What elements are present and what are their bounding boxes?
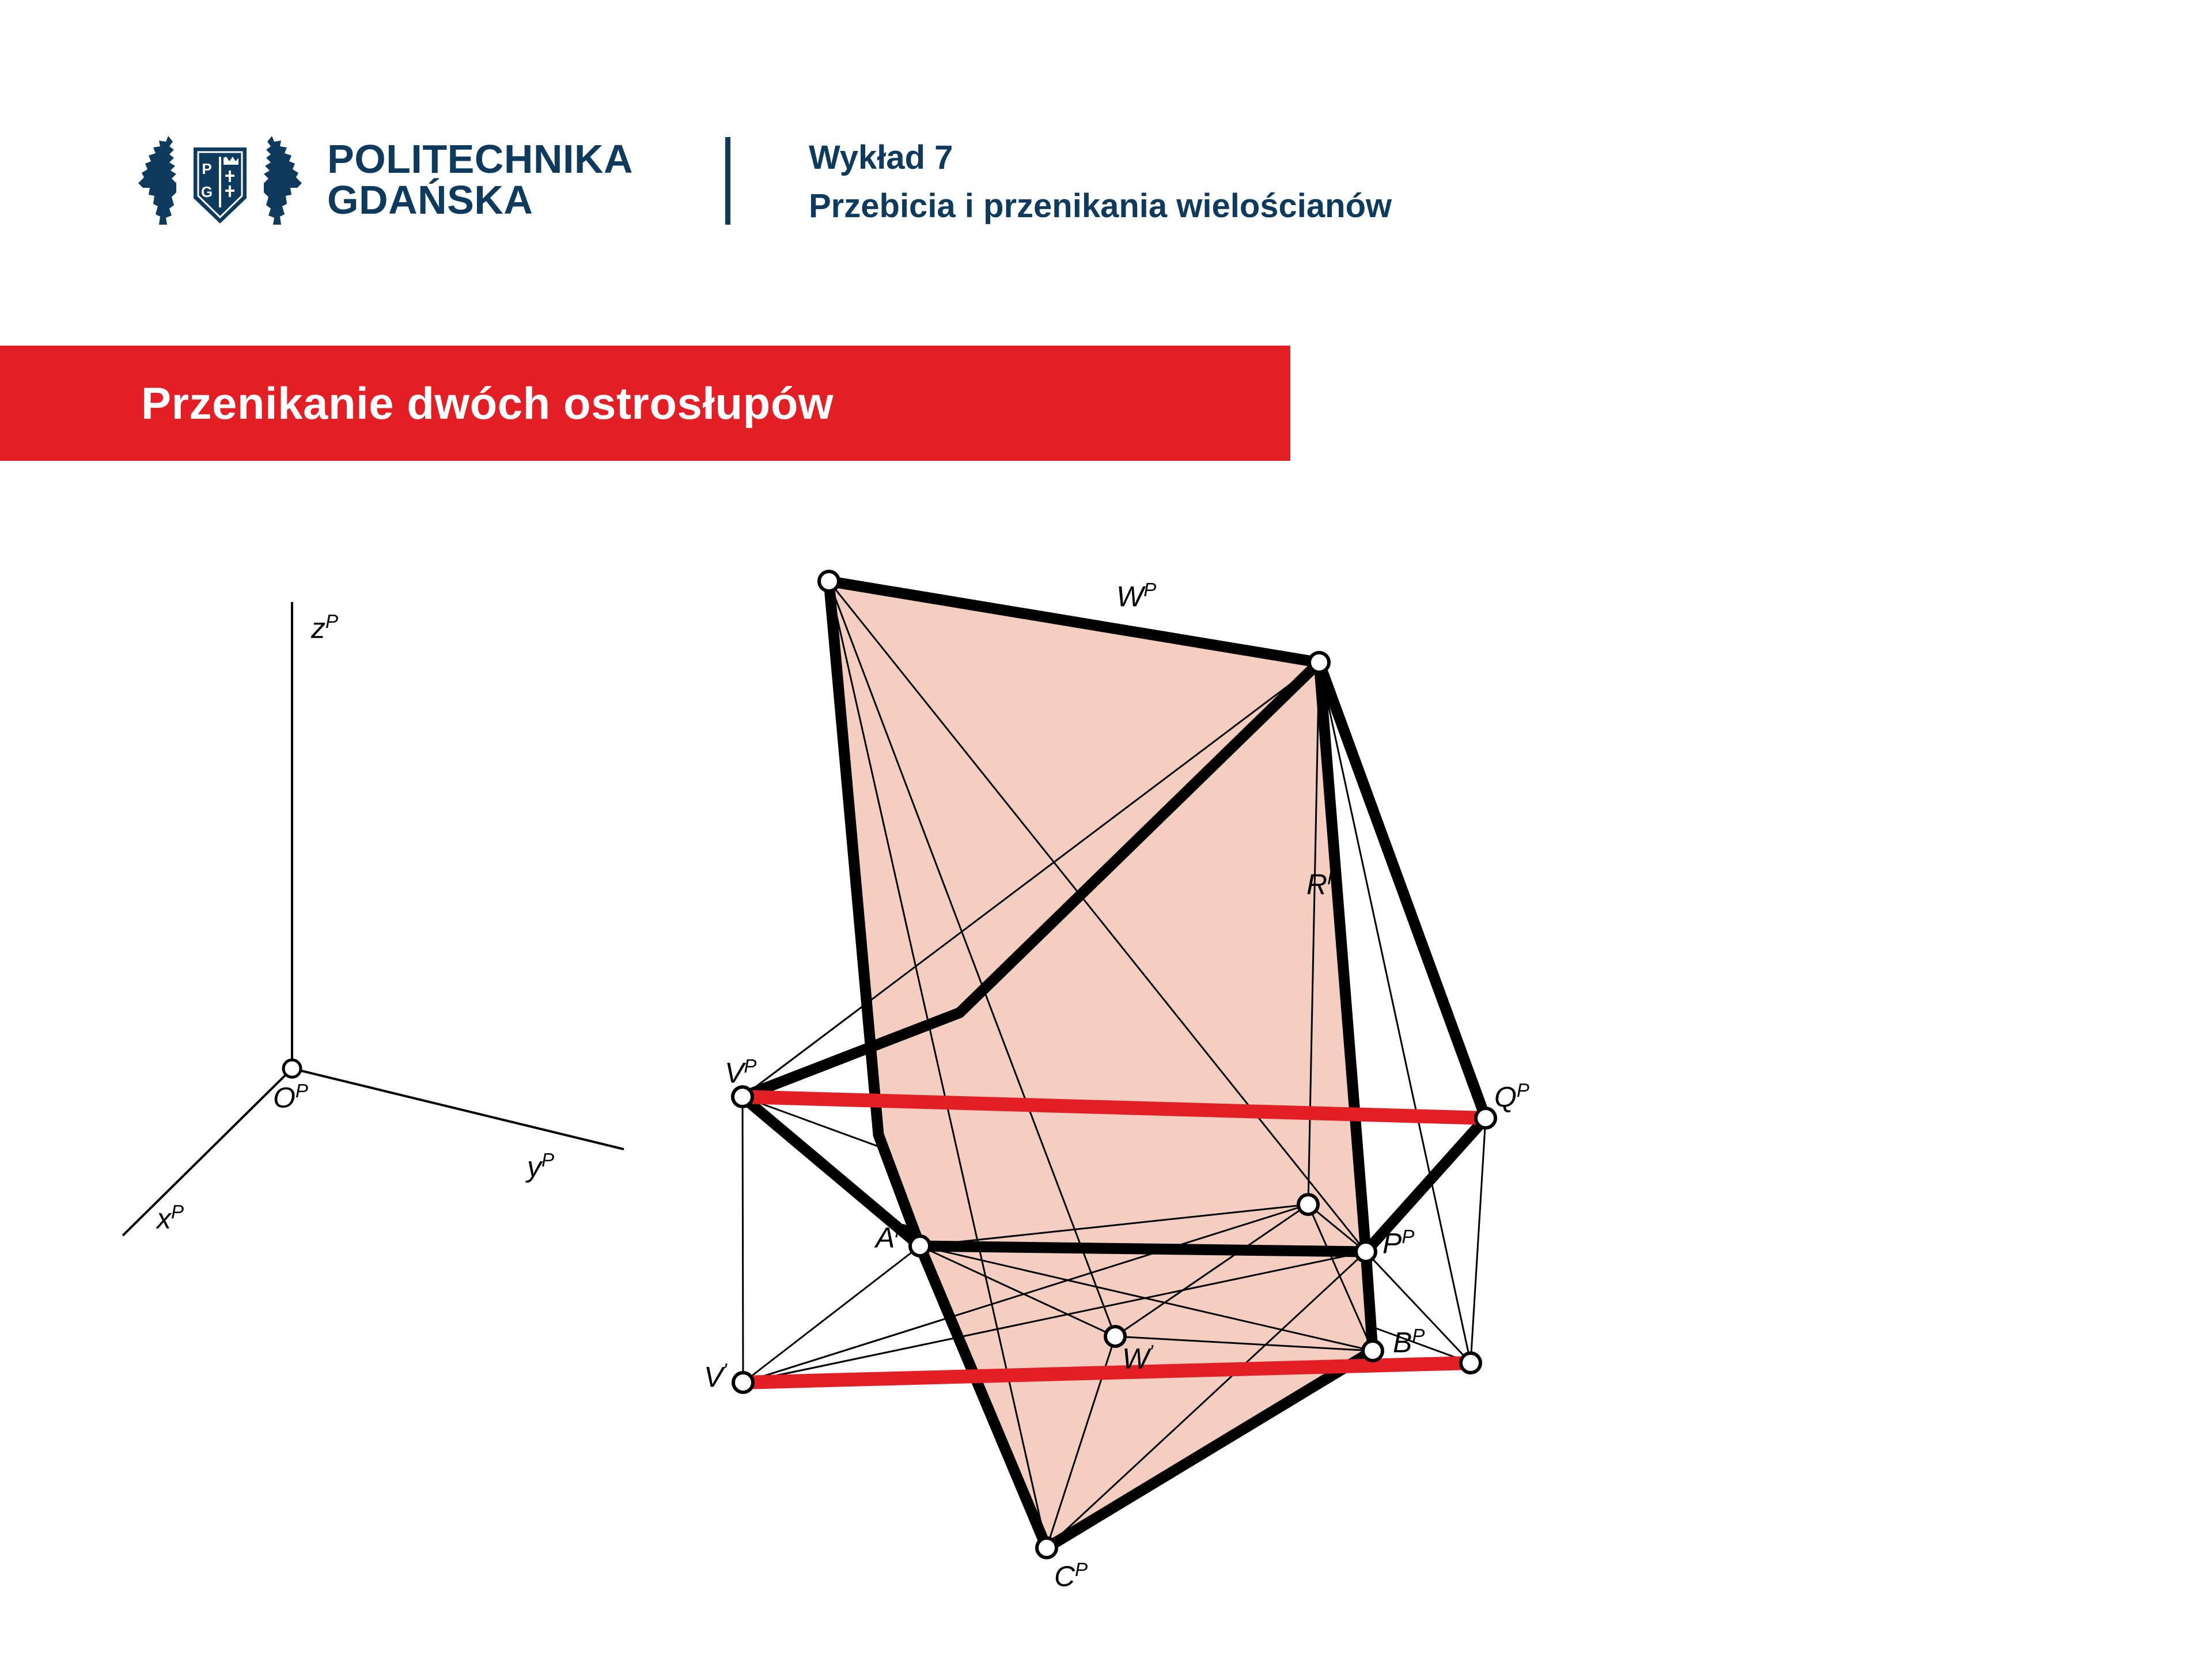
origin-point [283, 1060, 301, 1077]
vertex-P [1356, 1242, 1376, 1262]
vertex-A [910, 1236, 930, 1256]
point-label-W: WP [1116, 579, 1156, 613]
coordinate-axes [123, 602, 624, 1236]
vertex-V-prime [733, 1373, 753, 1392]
vertex-V [733, 1087, 752, 1107]
point-label-Q: QP [1494, 1080, 1529, 1114]
vertex-R [1309, 653, 1329, 672]
axis-y [292, 1069, 624, 1149]
vertex-W [819, 571, 839, 591]
point-label-V: VP [725, 1055, 756, 1090]
point-label-W-prime: W' [1122, 1341, 1153, 1376]
point-label-A: AP [876, 1220, 907, 1255]
technical-drawing [0, 0, 2212, 1659]
axis-label-y: yP [527, 1149, 554, 1184]
axis-label-x: xP [157, 1201, 184, 1236]
axis-label-z: zP [311, 611, 338, 645]
axis-label-origin: OP [273, 1080, 308, 1115]
intersection-lower [743, 1363, 1471, 1382]
point-label-V-prime: V' [704, 1359, 727, 1394]
vertex-R-prime [1298, 1195, 1318, 1214]
vertex-C [1037, 1538, 1056, 1558]
vertex-Q-prime [1461, 1353, 1480, 1373]
axis-x [123, 1069, 292, 1236]
point-label-R: RP [1306, 867, 1340, 902]
vertex-B [1363, 1341, 1382, 1361]
point-label-P: PP [1382, 1226, 1414, 1260]
point-label-B: BP [1393, 1325, 1425, 1359]
vertex-Q [1476, 1108, 1495, 1128]
point-label-C: CP [1054, 1559, 1088, 1593]
